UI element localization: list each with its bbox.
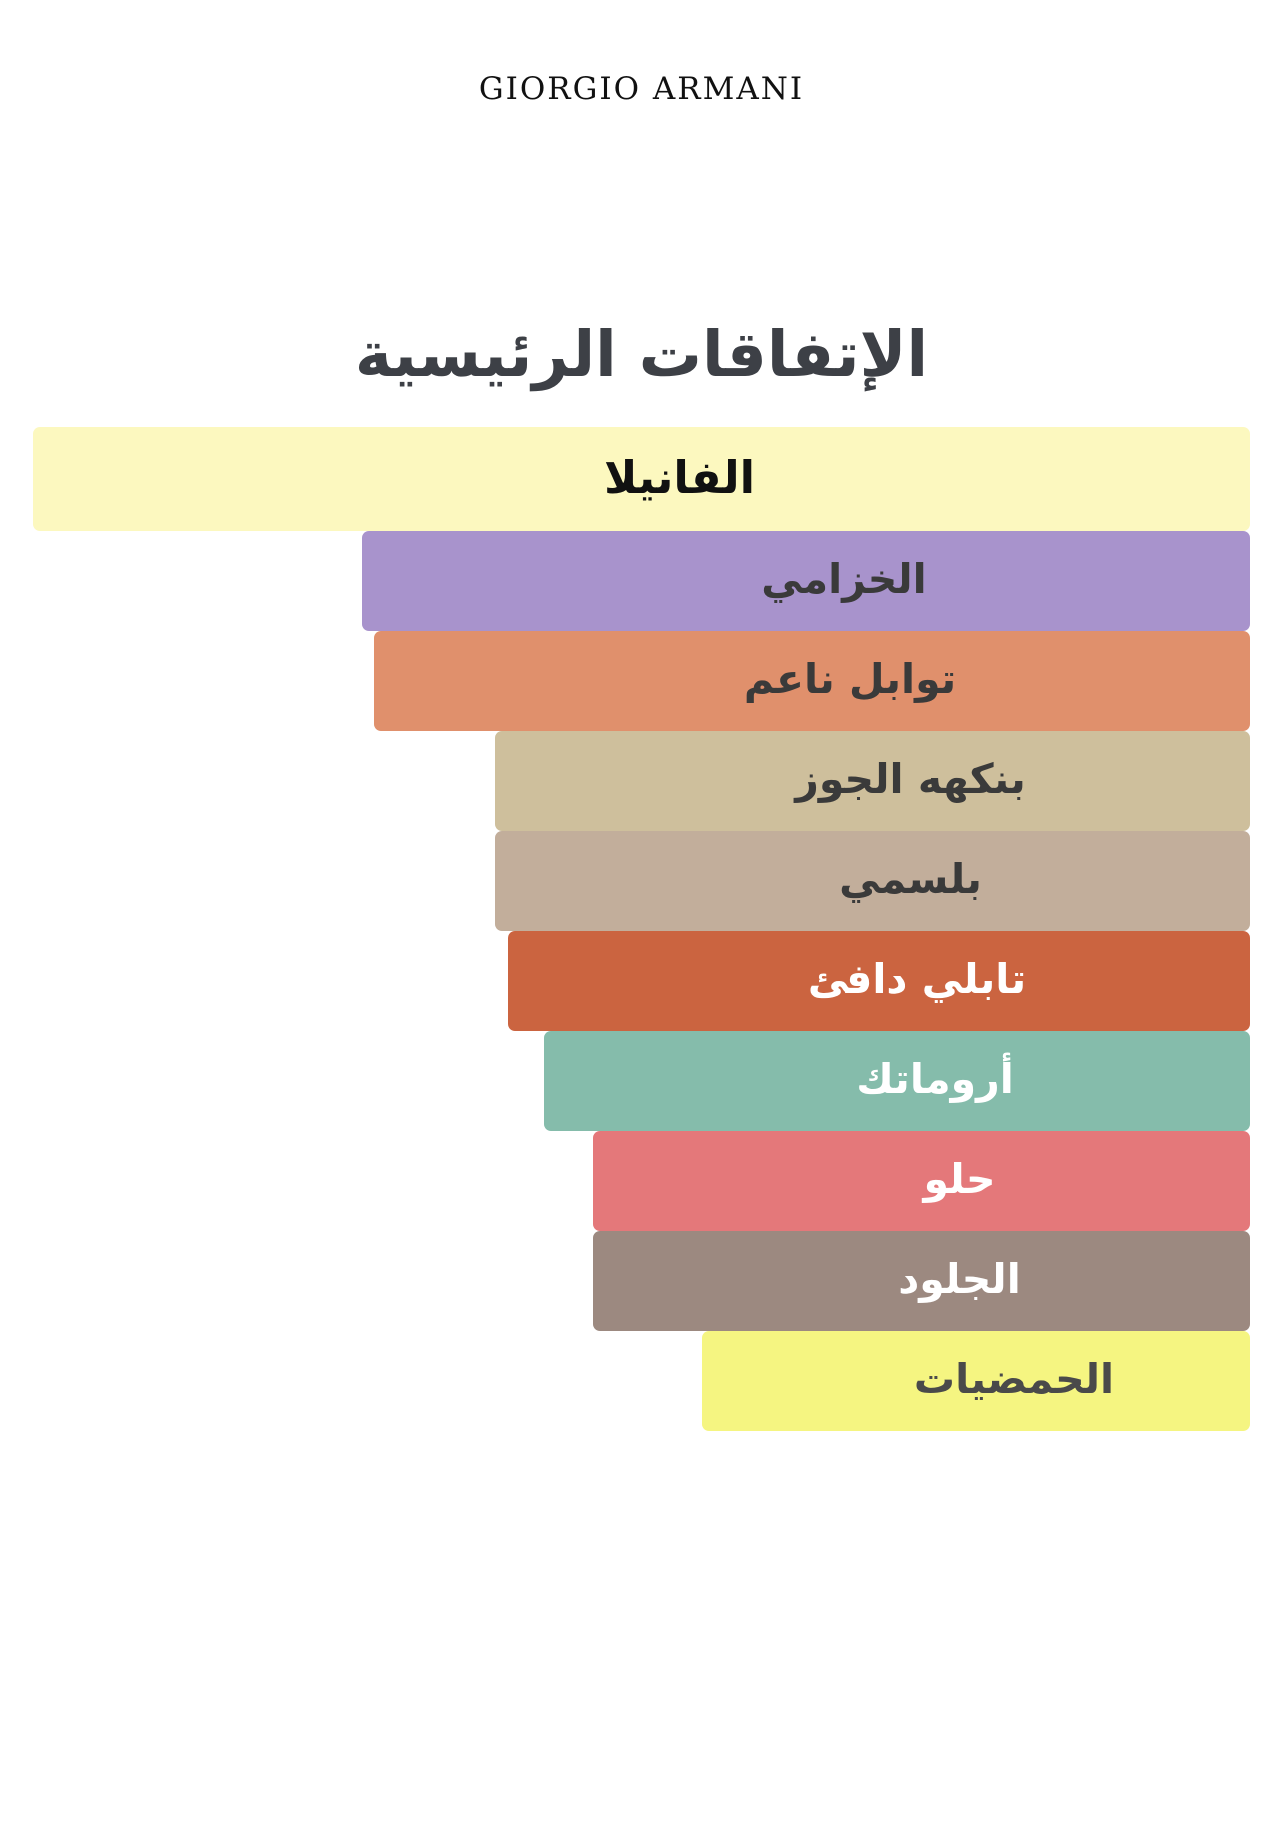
accord-label: بلسمي bbox=[839, 859, 982, 904]
accord-row: الفانيلا bbox=[0, 427, 1283, 531]
accord-label: بنكهه الجوز bbox=[795, 759, 1026, 804]
main-accords-chart: الفانيلاالخزاميتوابل ناعمبنكهه الجوزبلسم… bbox=[0, 427, 1283, 1431]
accord-bar[interactable]: بنكهه الجوز bbox=[495, 731, 1250, 831]
page-title: الإتفاقات الرئيسية bbox=[0, 319, 1283, 391]
accord-row: تابلي دافئ bbox=[0, 931, 1283, 1031]
accord-label: أروماتك bbox=[856, 1059, 1014, 1104]
accord-label: توابل ناعم bbox=[744, 659, 956, 704]
accord-label: تابلي دافئ bbox=[808, 959, 1026, 1004]
accord-label: الفانيلا bbox=[604, 455, 755, 504]
accord-bar[interactable]: الفانيلا bbox=[33, 427, 1250, 531]
accord-bar[interactable]: أروماتك bbox=[544, 1031, 1250, 1131]
accord-row: توابل ناعم bbox=[0, 631, 1283, 731]
brand-logo: GIORGIO ARMANI bbox=[479, 74, 804, 105]
accord-bar[interactable]: توابل ناعم bbox=[374, 631, 1250, 731]
accord-row: الجلود bbox=[0, 1231, 1283, 1331]
accord-row: أروماتك bbox=[0, 1031, 1283, 1131]
accords-page: GIORGIO ARMANI الإتفاقات الرئيسية الفاني… bbox=[0, 0, 1283, 1848]
accord-bar[interactable]: حلو bbox=[593, 1131, 1250, 1231]
accord-label: الجلود bbox=[898, 1259, 1020, 1304]
accord-bar[interactable]: بلسمي bbox=[495, 831, 1250, 931]
accord-row: حلو bbox=[0, 1131, 1283, 1231]
accord-label: الخزامي bbox=[761, 559, 926, 604]
accord-bar[interactable]: الجلود bbox=[593, 1231, 1250, 1331]
accord-row: الحمضيات bbox=[0, 1331, 1283, 1431]
accord-bar[interactable]: تابلي دافئ bbox=[508, 931, 1250, 1031]
accord-bar[interactable]: الخزامي bbox=[362, 531, 1250, 631]
accord-row: بلسمي bbox=[0, 831, 1283, 931]
accord-label: حلو bbox=[924, 1159, 996, 1204]
accord-label: الحمضيات bbox=[914, 1359, 1114, 1404]
accord-bar[interactable]: الحمضيات bbox=[702, 1331, 1250, 1431]
brand-header: GIORGIO ARMANI bbox=[0, 0, 1283, 105]
accord-row: بنكهه الجوز bbox=[0, 731, 1283, 831]
accord-row: الخزامي bbox=[0, 531, 1283, 631]
